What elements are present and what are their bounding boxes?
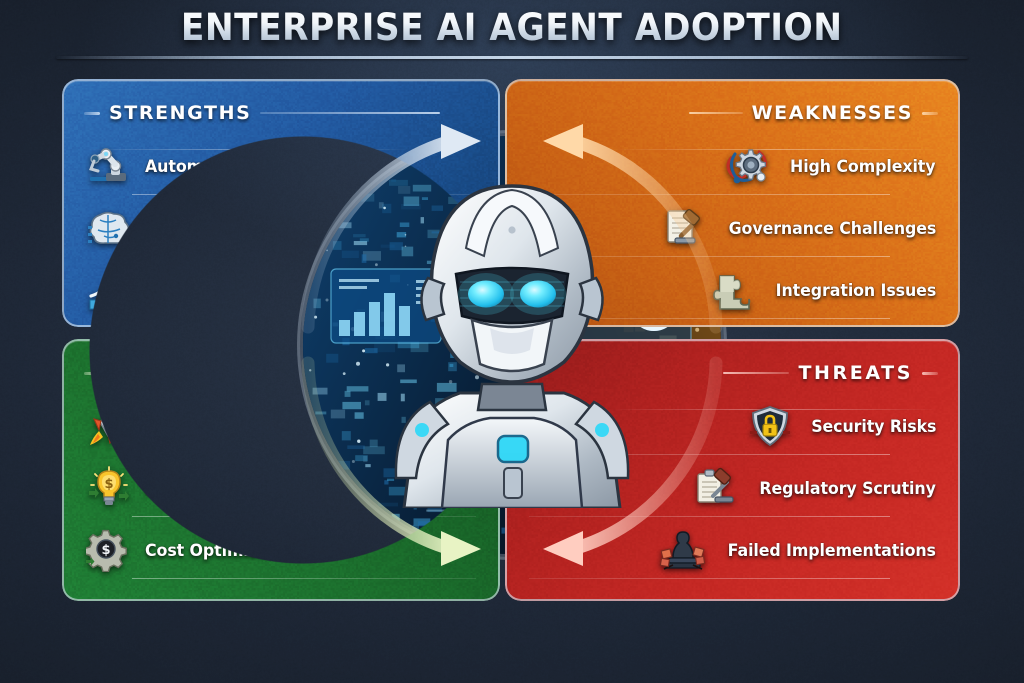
list-item[interactable]: Enhanced Decision-Making xyxy=(64,197,498,259)
heading-dash-right xyxy=(922,372,938,375)
list-item[interactable]: Automation at Scale xyxy=(64,135,498,197)
quadrant-heading-threats: THREATS xyxy=(507,353,958,393)
list-item-divider xyxy=(132,454,476,455)
list-item[interactable]: $ Cost Optimization xyxy=(64,519,498,581)
quadrant-heading-strengths: STRENGTHS xyxy=(64,93,498,133)
list-item-label: Competitive Advantage xyxy=(145,417,353,436)
robot-arm-icon xyxy=(86,144,132,188)
heading-rule-right xyxy=(311,372,333,374)
svg-text:$: $ xyxy=(101,543,110,558)
item-list-opportunities: Competitive Advantage $ xyxy=(64,393,498,581)
page-title: ENTERPRISE AI AGENT ADOPTION xyxy=(181,6,843,49)
quadrant-heading-weaknesses: WEAKNESSES xyxy=(507,93,958,133)
heading-label: STRENGTHS xyxy=(109,102,251,124)
puzzle-piece-icon xyxy=(710,268,756,312)
swot-infographic: ENTERPRISE AI AGENT ADOPTION xyxy=(0,0,1024,683)
item-list-strengths: Automation at Scale Enhanced Decision xyxy=(64,133,498,321)
list-item-label: Integration Issues xyxy=(776,281,936,300)
clipboard-gavel-icon xyxy=(693,466,739,510)
heading-rule-left xyxy=(689,112,743,114)
heading-label: THREATS xyxy=(798,362,913,384)
quadrant-strengths[interactable]: STRENGTHS xyxy=(62,79,500,327)
growth-bar-chart-icon xyxy=(86,268,132,312)
list-item-divider xyxy=(132,194,476,195)
list-item-divider xyxy=(132,318,476,319)
list-item[interactable]: Governance Challenges xyxy=(507,197,958,259)
list-item-divider xyxy=(132,256,476,257)
list-item-divider xyxy=(132,516,476,517)
list-item[interactable]: Failed Implementations xyxy=(507,519,958,581)
heading-dash-left xyxy=(84,112,100,115)
brain-icon xyxy=(86,206,132,250)
list-item-divider xyxy=(132,578,476,579)
heading-label: WEAKNESSES xyxy=(752,102,913,124)
gear-dollar-icon: $ xyxy=(86,528,132,572)
list-item-label: Automation at Scale xyxy=(145,157,324,176)
list-item-divider xyxy=(529,516,890,517)
heading-rule-left xyxy=(723,372,789,374)
list-item-divider xyxy=(529,454,890,455)
list-item-label: Security Risks xyxy=(811,417,936,436)
list-item-label: Enhanced Decision-Making xyxy=(145,219,382,238)
list-item-label: New Business Models xyxy=(145,479,336,498)
list-item-label: Cost Optimization xyxy=(145,541,303,560)
heading-rule-right xyxy=(260,112,440,114)
quadrant-opportunities[interactable]: OPPORTUNITIES xyxy=(62,339,500,601)
item-list-weaknesses: High Complexity xyxy=(507,133,958,321)
heading-dash-right xyxy=(922,112,938,115)
svg-text:$: $ xyxy=(104,477,113,492)
title-block: ENTERPRISE AI AGENT ADOPTION xyxy=(0,6,1024,68)
list-item[interactable]: Security Risks xyxy=(507,395,958,457)
shield-lock-icon xyxy=(747,404,793,448)
list-item[interactable]: Improved Productivity xyxy=(64,259,498,321)
tangled-gears-icon xyxy=(725,144,771,188)
rocket-icon xyxy=(86,404,132,448)
list-item-label: Regulatory Scrutiny xyxy=(760,479,936,498)
quadrant-weaknesses[interactable]: WEAKNESSES xyxy=(505,79,960,327)
heading-label: OPPORTUNITIES xyxy=(109,362,302,384)
list-item[interactable]: $ New Business Models xyxy=(64,457,498,519)
list-item-divider xyxy=(529,256,890,257)
list-item[interactable]: Competitive Advantage xyxy=(64,395,498,457)
item-list-threats: Security Risks xyxy=(507,393,958,581)
heading-dash-left xyxy=(84,372,100,375)
list-item[interactable]: Integration Issues xyxy=(507,259,958,321)
list-item-label: Improved Productivity xyxy=(145,281,342,300)
list-item-divider xyxy=(529,194,890,195)
list-item-label: Governance Challenges xyxy=(728,219,936,238)
lightbulb-dollar-icon: $ xyxy=(86,466,132,510)
list-item-divider xyxy=(529,578,890,579)
quadrant-heading-opportunities: OPPORTUNITIES xyxy=(64,353,498,393)
list-item[interactable]: Regulatory Scrutiny xyxy=(507,457,958,519)
broken-chess-piece-icon xyxy=(660,528,706,572)
list-item-label: High Complexity xyxy=(791,157,936,176)
quadrant-threats[interactable]: THREATS xyxy=(505,339,960,601)
list-item-divider xyxy=(529,318,890,319)
list-item[interactable]: High Complexity xyxy=(507,135,958,197)
gavel-document-icon xyxy=(661,206,707,250)
list-item-label: Failed Implementations xyxy=(728,541,936,560)
